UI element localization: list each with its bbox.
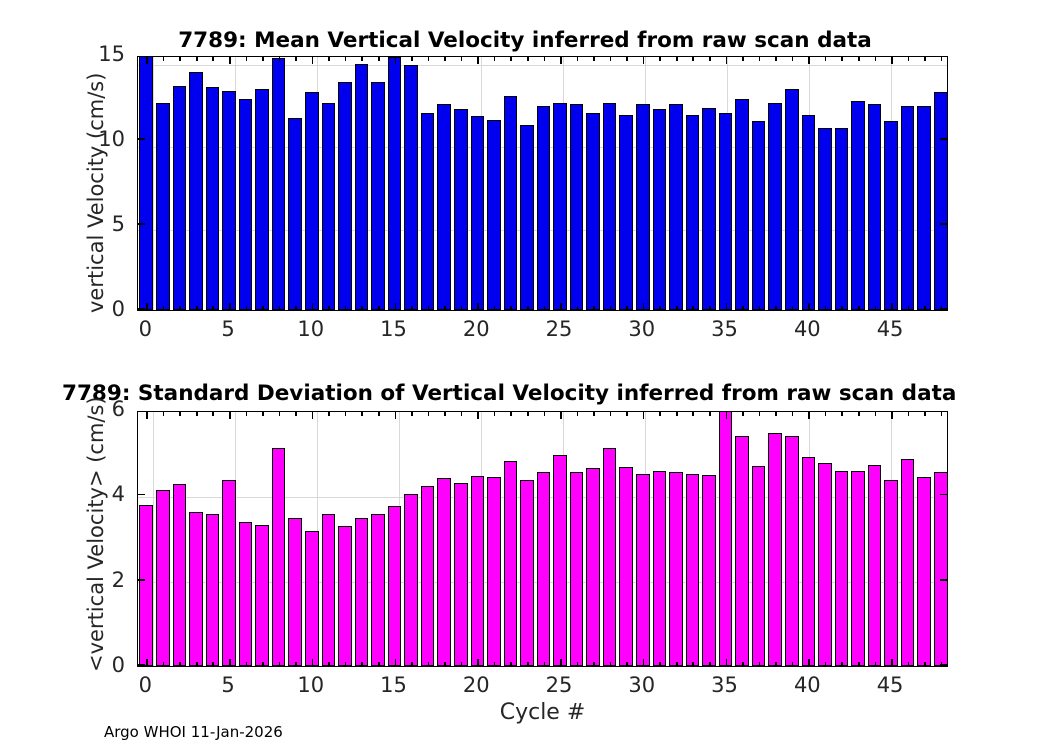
axis-tick-major [146,303,148,310]
axis-tick [941,57,943,61]
bar [735,99,749,310]
axis-tick [577,57,579,61]
bar [686,474,700,666]
axis-tick-major [891,659,893,666]
axis-tick [328,306,330,310]
axis-tick [676,662,678,666]
bar [487,120,501,310]
axis-tick [279,662,281,666]
axis-tick [345,306,347,310]
bar [272,58,286,310]
axis-tick-major [940,494,947,496]
axis-tick-major [395,303,397,310]
axis-tick-major [395,659,397,666]
axis-tick [461,662,463,666]
axis-tick-major [940,223,947,225]
x-tick-label: 20 [446,673,506,697]
axis-tick [444,57,446,61]
axis-tick-major [940,579,947,581]
bar [338,82,352,310]
axis-tick-major [477,57,479,64]
axis-tick [246,57,248,61]
axis-tick [461,306,463,310]
x-tick-label: 45 [860,673,920,697]
axis-tick-major [891,412,893,419]
bar [835,128,849,310]
axis-tick-major [138,223,145,225]
axis-tick [527,662,529,666]
axis-tick [262,57,264,61]
bar [818,128,832,310]
axis-tick [908,412,910,416]
bar [504,461,518,666]
bar [901,106,915,310]
bar [785,89,799,310]
axis-tick-major [395,412,397,419]
axis-tick [692,306,694,310]
y-axis-label-mean: vertical Velocity (cm/s) [84,73,108,313]
axis-tick [279,412,281,416]
bar [570,104,584,310]
axis-tick [593,57,595,61]
bar [884,121,898,310]
y-tick-label: 4 [65,482,125,506]
bar [454,109,468,310]
axis-tick [544,306,546,310]
axis-tick [841,662,843,666]
axis-tick-major [940,138,947,140]
axis-tick [610,412,612,416]
axis-tick [577,662,579,666]
bar [669,472,683,666]
x-tick-label: 30 [612,673,672,697]
bar [553,455,567,666]
axis-tick-major [560,412,562,419]
axis-tick [494,57,496,61]
axis-tick [196,412,198,416]
axis-tick [196,57,198,61]
axis-tick [908,306,910,310]
axis-tick-major [229,659,231,666]
bar [421,113,435,310]
axis-tick-major [726,412,728,419]
bar [868,104,882,310]
axis-tick [924,306,926,310]
axis-tick [941,412,943,416]
axis-tick-major [138,579,145,581]
axis-tick [659,57,661,61]
axis-tick [626,662,628,666]
bar [255,89,269,310]
x-tick-label: 25 [529,317,589,341]
axis-tick [444,662,446,666]
axis-tick [709,306,711,310]
bar [851,101,865,310]
axis-tick-major [808,57,810,64]
axis-tick [908,662,910,666]
axis-tick [328,57,330,61]
y-tick-label: 0 [65,653,125,677]
bar [768,433,782,666]
bar [371,514,385,666]
axis-tick [742,57,744,61]
bar [686,115,700,311]
axis-tick [709,662,711,666]
axis-tick [411,662,413,666]
axis-tick [610,662,612,666]
x-tick-label: 15 [364,673,424,697]
axis-tick [825,412,827,416]
y-tick-label: 10 [65,127,125,151]
axis-tick [775,412,777,416]
axis-tick [924,662,926,666]
bar [239,99,253,310]
axis-tick [163,306,165,310]
axis-tick [196,306,198,310]
axis-tick-major [477,659,479,666]
axis-tick [610,306,612,310]
mean-velocity-plot [137,56,948,311]
bar [901,459,915,666]
x-tick-label: 45 [860,317,920,341]
axis-tick [875,57,877,61]
axis-tick-major [726,659,728,666]
axis-tick-major [560,303,562,310]
mean-velocity-bars [138,57,947,310]
bar [338,526,352,666]
axis-tick [742,662,744,666]
axis-tick [163,57,165,61]
x-tick-label: 40 [777,673,837,697]
bar [835,471,849,666]
bar [537,106,551,310]
axis-tick [626,57,628,61]
axis-tick [163,412,165,416]
y-tick-label: 0 [65,297,125,321]
axis-tick-major [643,412,645,419]
axis-tick [659,412,661,416]
bar [173,86,187,310]
bar [504,96,518,310]
axis-tick [825,57,827,61]
bar [653,471,667,666]
bar [404,494,418,666]
axis-tick [179,662,181,666]
axis-tick [593,412,595,416]
axis-tick [626,306,628,310]
axis-tick [361,57,363,61]
axis-tick [411,412,413,416]
bar [702,475,716,666]
axis-tick [262,412,264,416]
axis-tick [378,662,380,666]
axis-tick [527,306,529,310]
axis-tick [858,57,860,61]
bar [851,471,865,666]
axis-tick-major [808,303,810,310]
bar [934,92,948,310]
axis-tick [345,412,347,416]
std-plot-area [137,411,948,667]
axis-tick [775,306,777,310]
axis-tick [179,57,181,61]
axis-tick-major [940,664,947,666]
axis-tick [411,306,413,310]
axis-tick [246,412,248,416]
bar [322,514,336,666]
axis-tick [692,662,694,666]
axis-tick [262,306,264,310]
x-tick-label: 35 [695,317,755,341]
bar [222,480,236,666]
axis-tick [295,57,297,61]
bar [669,104,683,310]
axis-tick [593,662,595,666]
bar [437,478,451,666]
bar [520,480,534,666]
axis-tick [246,662,248,666]
axis-tick [792,57,794,61]
bar [139,505,153,666]
bar [884,480,898,666]
axis-tick [908,57,910,61]
axis-tick [361,412,363,416]
y-tick-label: 6 [65,397,125,421]
axis-tick [841,412,843,416]
axis-tick-major [808,659,810,666]
axis-tick [676,412,678,416]
axis-tick [659,306,661,310]
bar [206,87,220,310]
axis-tick [858,412,860,416]
axis-tick [212,412,214,416]
std-velocity-plot [137,411,948,667]
bar [189,512,203,666]
x-tick-label: 35 [695,673,755,697]
y-tick-label: 2 [65,568,125,592]
axis-tick [494,412,496,416]
axis-tick-major [940,308,947,310]
axis-tick [659,662,661,666]
axis-tick [179,412,181,416]
axis-tick [841,57,843,61]
axis-tick [345,57,347,61]
bar [404,65,418,310]
x-tick-label: 40 [777,317,837,341]
axis-tick [444,412,446,416]
axis-tick [875,306,877,310]
bar [768,103,782,310]
axis-tick-major [138,494,145,496]
axis-tick-major [395,57,397,64]
x-tick-label: 20 [446,317,506,341]
axis-tick [924,412,926,416]
axis-tick [295,306,297,310]
bar [355,64,369,311]
x-tick-label: 15 [364,317,424,341]
axis-tick [626,412,628,416]
axis-tick [378,412,380,416]
axis-tick [196,662,198,666]
axis-tick [428,306,430,310]
axis-tick [544,57,546,61]
axis-tick-major [312,659,314,666]
axis-tick [825,306,827,310]
bar [702,108,716,310]
bar [288,518,302,666]
axis-tick [709,412,711,416]
axis-tick [742,412,744,416]
axis-tick [494,662,496,666]
bar [868,465,882,666]
axis-tick [361,306,363,310]
axis-tick [361,662,363,666]
y-tick-label: 5 [65,212,125,236]
axis-tick [858,662,860,666]
bar [272,448,286,666]
bar [156,490,170,666]
mean-plot-area [137,56,948,311]
axis-tick [328,662,330,666]
axis-tick [875,662,877,666]
bar [487,477,501,666]
figure-footer: Argo WHOI 11-Jan-2026 [104,723,283,741]
axis-tick [345,662,347,666]
axis-tick-major [808,412,810,419]
axis-tick [527,412,529,416]
bar [818,463,832,666]
bar [917,106,931,310]
axis-tick [163,662,165,666]
axis-tick [328,412,330,416]
axis-tick-major [138,138,145,140]
bar [603,103,617,310]
axis-tick [527,57,529,61]
axis-tick [212,306,214,310]
axis-tick [510,57,512,61]
bar [586,468,600,666]
axis-tick [295,662,297,666]
axis-tick-major [643,303,645,310]
bar [222,91,236,310]
bar [322,103,336,310]
bar [305,531,319,666]
bar [719,411,733,666]
axis-tick [577,306,579,310]
axis-tick [610,57,612,61]
bar [636,474,650,666]
axis-tick [792,306,794,310]
axis-tick [544,412,546,416]
bar [305,92,319,310]
axis-tick-major [726,303,728,310]
axis-tick [676,306,678,310]
axis-tick-major [229,303,231,310]
bar [719,113,733,310]
chart-title-std: 7789: Standard Deviation of Vertical Vel… [62,381,1050,406]
axis-tick [378,57,380,61]
axis-tick [709,57,711,61]
axis-tick [775,662,777,666]
bar [206,514,220,666]
axis-tick-major [891,57,893,64]
bar [570,472,584,666]
axis-tick [428,662,430,666]
x-tick-label: 5 [198,673,258,697]
bar [553,103,567,310]
axis-tick-major [138,308,145,310]
bar [355,518,369,666]
axis-tick [841,306,843,310]
axis-tick-major [643,57,645,64]
axis-tick-major [229,412,231,419]
axis-tick [246,306,248,310]
axis-tick [510,662,512,666]
x-tick-label: 10 [281,673,341,697]
argo-velocity-figure: 7789: Mean Vertical Velocity inferred fr… [0,0,1050,750]
axis-tick [279,57,281,61]
bar [156,103,170,310]
axis-tick-major [312,412,314,419]
axis-tick [759,57,761,61]
x-tick-label: 10 [281,317,341,341]
bar [619,115,633,311]
bar [917,477,931,666]
axis-tick [775,57,777,61]
axis-tick [510,412,512,416]
bar [239,522,253,666]
axis-tick-major [146,412,148,419]
axis-tick [759,662,761,666]
axis-tick-major [312,303,314,310]
axis-tick [510,306,512,310]
x-tick-label: 25 [529,673,589,697]
axis-tick-major [560,659,562,666]
axis-tick-major [643,659,645,666]
axis-tick [792,412,794,416]
chart-title-mean: 7789: Mean Vertical Velocity inferred fr… [0,28,1050,53]
axis-tick [692,412,694,416]
axis-tick-major [891,303,893,310]
axis-tick-major [146,57,148,64]
axis-tick [212,662,214,666]
axis-tick-major [477,412,479,419]
axis-tick [179,306,181,310]
axis-tick [428,57,430,61]
axis-tick [494,306,496,310]
y-axis-label-std: <vertical Velocity> (cm/s) [84,396,108,672]
bar [520,125,534,310]
bar [371,82,385,310]
axis-tick [593,306,595,310]
bar [785,436,799,666]
bar [421,486,435,666]
bar [802,457,816,666]
axis-tick [444,306,446,310]
bar [653,109,667,310]
axis-tick [759,306,761,310]
axis-tick [295,412,297,416]
axis-tick-major [477,303,479,310]
x-tick-label: 30 [612,317,672,341]
x-tick-label: 5 [198,317,258,341]
bar [752,466,766,666]
bar [437,104,451,310]
bar [388,506,402,666]
axis-tick-major [138,664,145,666]
bar [934,472,948,666]
axis-tick [577,412,579,416]
